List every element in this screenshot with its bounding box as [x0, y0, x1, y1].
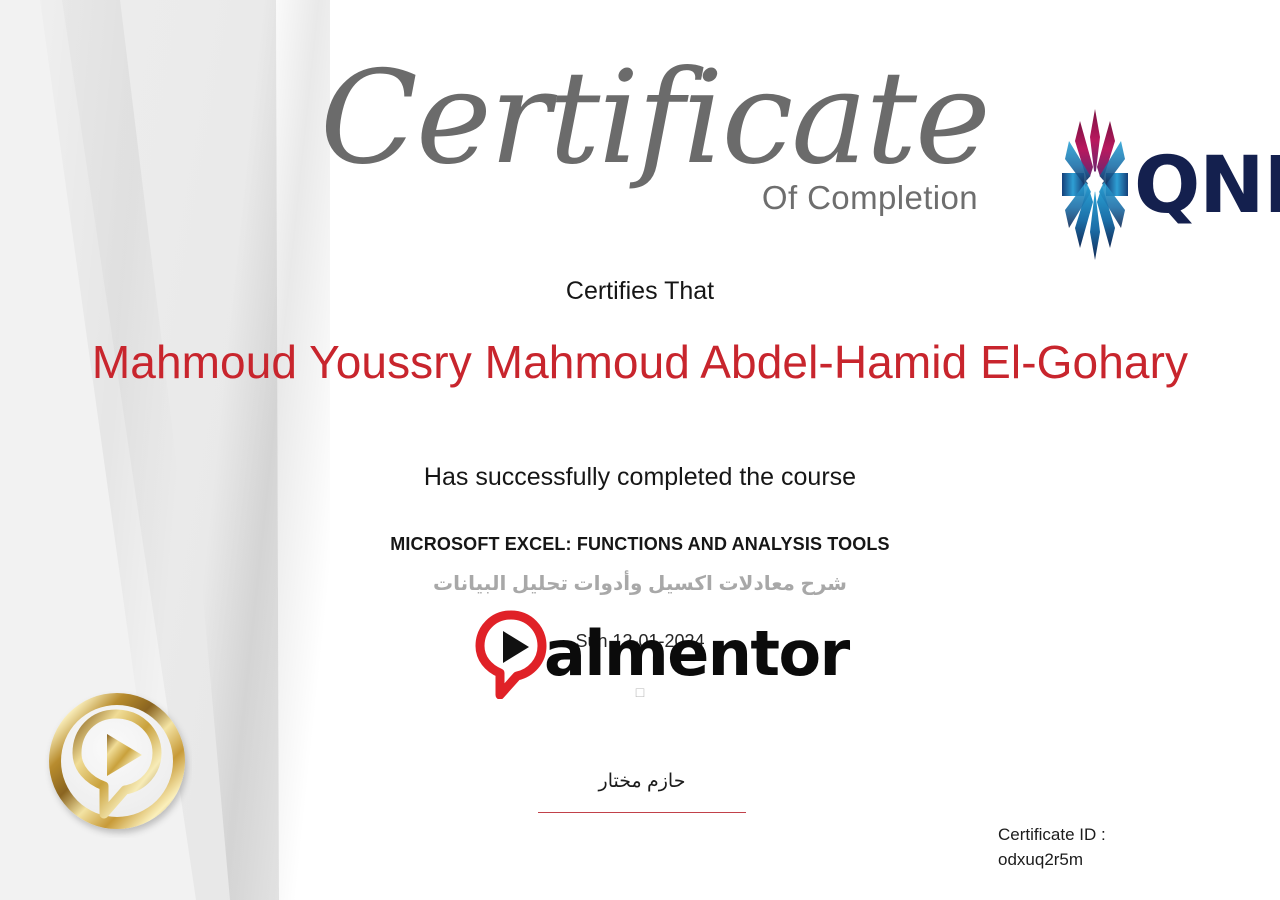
certificate-id-value: odxuq2r5m: [998, 847, 1248, 872]
recipient-name: Mahmoud Youssry Mahmoud Abdel-Hamid El-G…: [90, 336, 1190, 388]
qnb-logo: QNB: [1062, 104, 1248, 264]
certificate-title: Certificate: [320, 54, 980, 185]
certificate-id: Certificate ID : odxuq2r5m: [998, 822, 1248, 872]
play-bubble-icon: [474, 609, 548, 699]
completion-label: Has successfully completed the course: [0, 463, 1280, 492]
course-title-arabic: شرح معادلات اكسيل وأدوات تحليل البيانات: [0, 571, 1280, 596]
signature-name: حازم مختار: [442, 770, 842, 793]
certificate-page: Certificate Of Completion: [0, 0, 1280, 900]
certifies-label: Certifies That: [0, 277, 1280, 306]
certificate-id-label: Certificate ID :: [998, 822, 1248, 847]
gold-seal: [42, 688, 192, 838]
signature-rule: [538, 812, 746, 813]
qnb-star-icon: [1062, 107, 1128, 262]
certificate-header: Certificate Of Completion: [320, 54, 980, 217]
almentor-logo: almentor: [474, 609, 849, 699]
almentor-wordmark: almentor: [544, 623, 849, 685]
course-title: MICROSOFT EXCEL: FUNCTIONS AND ANALYSIS …: [0, 534, 1280, 555]
qnb-wordmark: QNB: [1134, 147, 1280, 225]
